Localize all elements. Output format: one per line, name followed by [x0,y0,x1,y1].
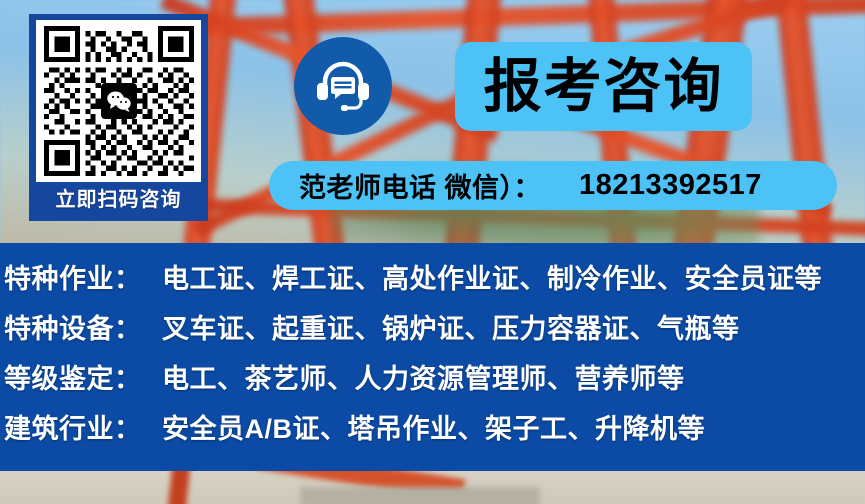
qr-code-card[interactable]: 立即扫码咨询 [29,14,208,221]
category-items: 电工证、焊工证、高处作业证、制冷作业、安全员证等 [162,257,822,296]
info-row-grade-assessment: 等级鉴定： 电工、茶艺师、人力资源管理师、营养师等 [4,357,865,407]
info-row-special-equipment: 特种设备： 叉车证、起重证、锅炉证、压力容器证、气瓶等 [4,307,865,357]
construction-element [168,471,191,504]
headset-support-icon [294,37,392,135]
info-row-special-operations: 特种作业： 电工证、焊工证、高处作业证、制冷作业、安全员证等 [4,257,865,307]
contact-phone-number[interactable]: 18213392517 [579,169,762,202]
category-items: 安全员A/B证、塔吊作业、架子工、升降机等 [162,407,705,446]
category-items: 叉车证、起重证、锅炉证、压力容器证、气瓶等 [162,307,740,346]
wechat-qr-code-icon[interactable] [44,26,194,176]
qr-card-label: 立即扫码咨询 [56,182,182,218]
promo-poster: 立即扫码咨询 报考咨询 范老师电话 微信）： 18213392517 特种作业：… [0,0,865,504]
certificate-category-panel: 特种作业： 电工证、焊工证、高处作业证、制冷作业、安全员证等 特种设备： 叉车证… [0,243,865,471]
category-items: 电工、茶艺师、人力资源管理师、营养师等 [162,357,685,396]
contact-label: 范老师电话 微信）： [299,166,541,205]
category-label: 特种作业： [4,257,152,296]
contact-banner[interactable]: 范老师电话 微信）： 18213392517 [269,161,837,210]
wechat-logo-icon [101,83,137,119]
title-banner: 报考咨询 [455,42,752,131]
category-label: 特种设备： [4,307,152,346]
construction-element [300,487,540,504]
category-label: 建筑行业： [4,407,152,446]
page-title: 报考咨询 [483,58,723,116]
info-row-construction-industry: 建筑行业： 安全员A/B证、塔吊作业、架子工、升降机等 [4,407,865,457]
background-photo-bottom [0,471,865,504]
category-label: 等级鉴定： [4,357,152,396]
qr-code-frame [36,20,201,182]
